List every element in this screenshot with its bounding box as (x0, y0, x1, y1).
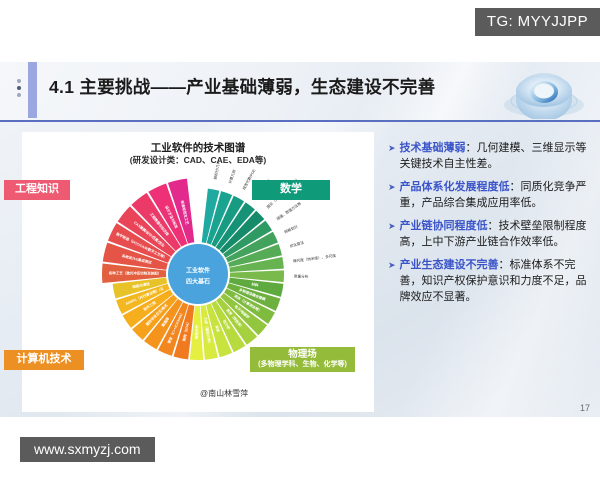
bullet-highlight: 产业链协同程度低 (400, 220, 488, 232)
quadrant-badge-physics-sub: (多物理学科、生物、化学等) (250, 361, 355, 370)
bullet-highlight: 技术基础薄弱 (400, 142, 466, 154)
slide-page-number: 17 (580, 403, 590, 413)
arrow-bullet-icon: ➤ (388, 257, 396, 273)
sunburst-segment-label: 质量分析 (294, 273, 309, 278)
sunburst-segment-label: 结构分析 (194, 324, 199, 339)
quadrant-badge-computer: 计算机技术 (4, 350, 84, 370)
bullet-dots-decoration (17, 76, 23, 100)
arrow-bullet-icon: ➤ (388, 218, 396, 234)
blue-torus-icon (500, 65, 588, 119)
author-signature: @南山林雪萍 (200, 388, 248, 399)
top-white-strip: TG: MYYJJPP (0, 0, 600, 62)
bullet-item: ➤产业生态建设不完善：标准体系不完善，知识产权保护意识和力度不足，品牌效应不显著… (388, 257, 588, 305)
presentation-slide: 4.1 主要挑战——产业基础薄弱，生态建设不完善 (0, 62, 600, 417)
tg-watermark-badge: TG: MYYJJPP (475, 8, 600, 36)
sunburst-segment-label: 各种工艺（激光冲压切削及装配） (108, 270, 162, 275)
bullet-highlight: 产品体系化发展程度低 (400, 181, 510, 193)
technology-map-chart: 工业软件的技术图谱 (研发设计类：CAD、CAE、EDA等) 各种工艺（激光冲压… (22, 132, 374, 412)
arrow-bullet-icon: ➤ (388, 179, 396, 195)
bullet-text: 产业链协同程度低：技术壁垒限制程度高，上中下游产业链合作效率低。 (400, 218, 588, 250)
bullet-text: 产品体系化发展程度低：同质化竞争严重，产品综合集成应用率低。 (400, 179, 588, 211)
sunburst-segment-label: 网格划分 (283, 224, 298, 235)
sunburst-segment-label: 微尺度（纳米级）、多尺度 (293, 253, 337, 264)
slide-header: 4.1 主要挑战——产业基础薄弱，生态建设不完善 (0, 62, 600, 122)
quadrant-badge-math: 数学 (252, 180, 330, 200)
bullet-item: ➤技术基础薄弱：几何建模、三维显示等关键技术自主性差。 (388, 140, 588, 172)
bullet-highlight: 产业生态建设不完善 (400, 259, 499, 271)
chart-title: 工业软件的技术图谱 (22, 140, 374, 155)
title-accent-bar (28, 62, 37, 118)
sunburst-segment-label: 优化算法 (289, 240, 305, 249)
quadrant-badge-engineering: 工程知识 (4, 180, 70, 200)
bullet-item: ➤产业链协同程度低：技术壁垒限制程度高，上中下游产业链合作效率低。 (388, 218, 588, 250)
sunburst-core-label: 工业软件 (186, 267, 210, 275)
challenges-bullet-list: ➤技术基础薄弱：几何建模、三维显示等关键技术自主性差。➤产品体系化发展程度低：同… (388, 140, 588, 312)
sunburst-segment-label: 计算几何 (227, 169, 237, 185)
bullet-item: ➤产品体系化发展程度低：同质化竞争严重，产品综合集成应用率低。 (388, 179, 588, 211)
quadrant-badge-physics: 物理场 (多物理学科、生物、化学等) (250, 347, 355, 372)
sunburst-core-label: 四大基石 (186, 278, 210, 286)
sunburst-segment-label: 插值、数值方法等 (275, 201, 302, 222)
site-watermark: www.sxmyzj.com (20, 437, 155, 462)
bullet-text: 技术基础薄弱：几何建模、三维显示等关键技术自主性差。 (400, 140, 588, 172)
quadrant-badge-physics-main: 物理场 (288, 349, 317, 360)
bullet-text: 产业生态建设不完善：标准体系不完善，知识产权保护意识和力度不足，品牌效应不显著。 (400, 257, 588, 305)
arrow-bullet-icon: ➤ (388, 140, 396, 156)
page-title: 4.1 主要挑战——产业基础薄弱，生态建设不完善 (49, 74, 435, 99)
sunburst-segment-label: 微积分/几何 (212, 162, 220, 180)
